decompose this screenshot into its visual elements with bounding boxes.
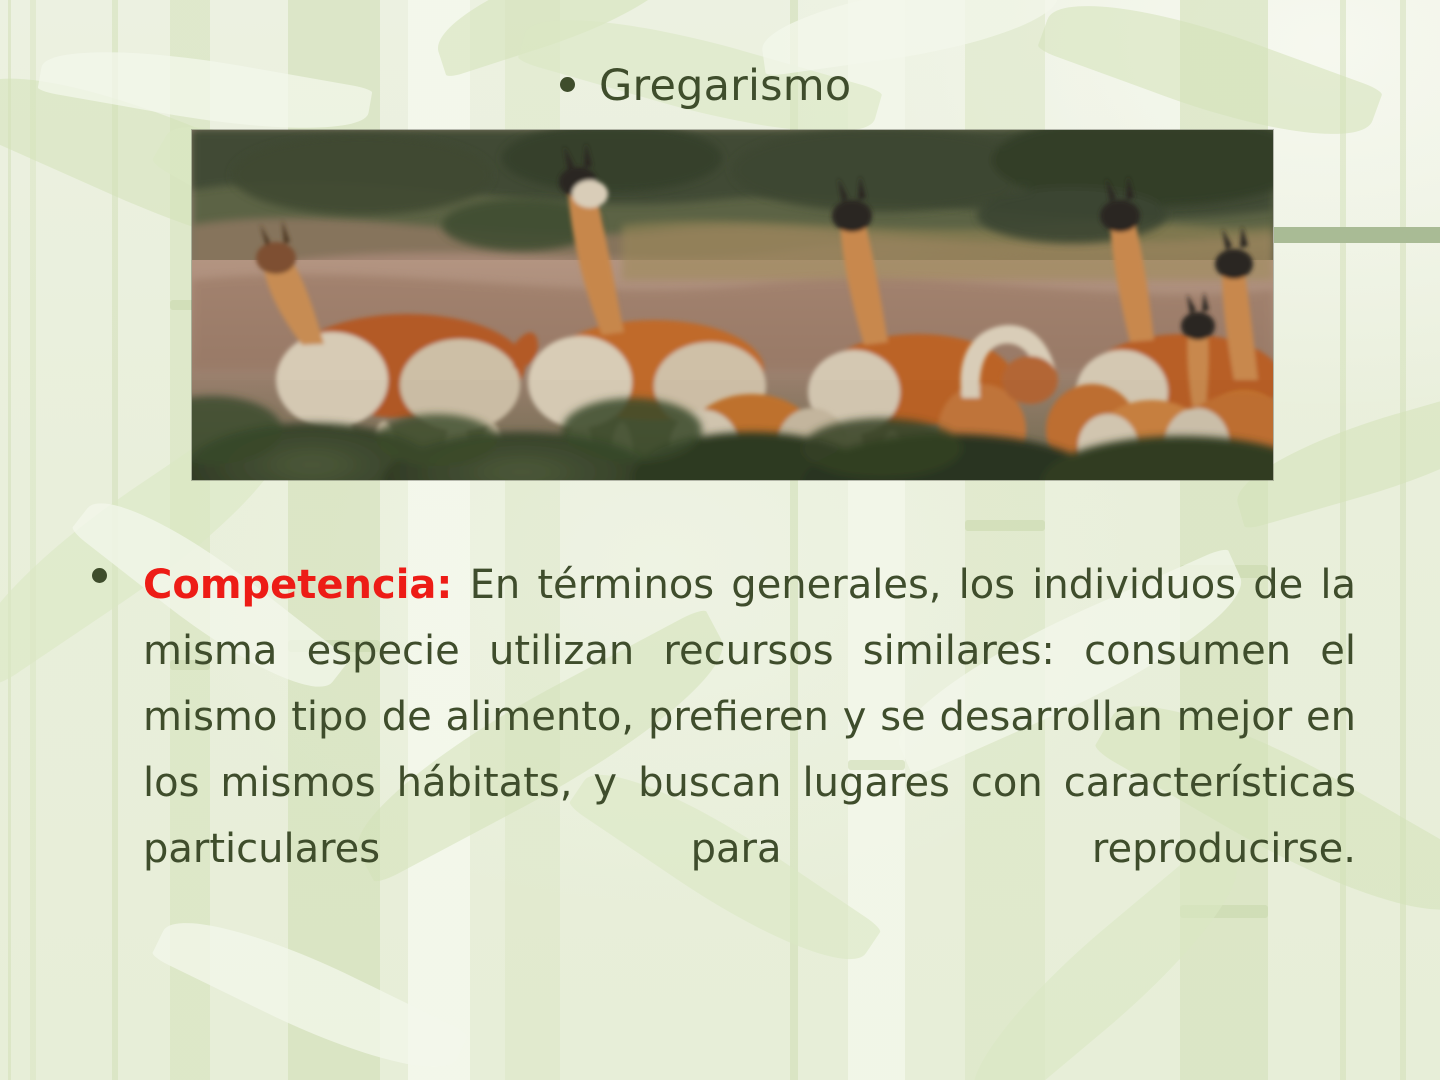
body-paragraph-text: En términos generales, los individuos de… [143,562,1356,872]
accent-rule [1274,227,1440,243]
photo-illustration [192,130,1273,480]
body-paragraph: Competencia: En términos generales, los … [143,552,1356,948]
body-bullet-icon [92,568,107,583]
body-lead-label: Competencia: [143,562,452,608]
title-text: Gregarismo [599,64,851,109]
guanaco-herd-photo [192,130,1273,480]
title-bullet-icon [560,77,575,92]
slide-title: Gregarismo [560,64,851,109]
presentation-slide: Gregarismo [0,0,1440,1080]
